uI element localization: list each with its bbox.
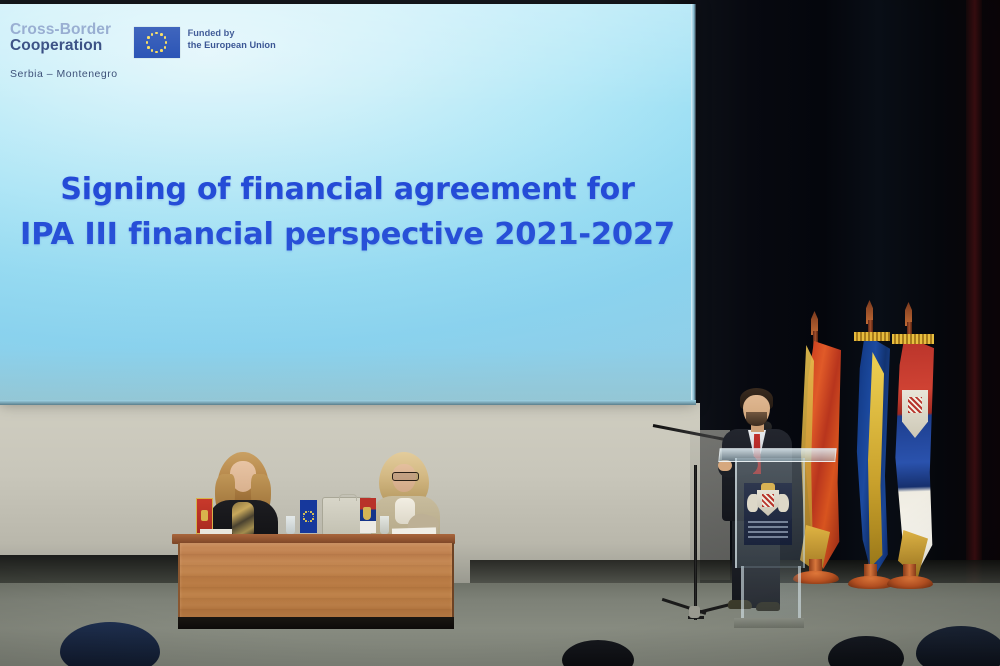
serbia-flag-fringe [892,334,934,344]
signing-table-under-shadow [178,617,454,629]
eu-table-flag [300,500,317,533]
slide-title-line-1: Signing of financial agreement for [0,167,695,212]
event-photograph: Cross-Border Cooperation Serbia – Monten… [0,0,1000,666]
microphone-stand-pole [694,465,697,620]
serbia-table-flag [360,498,376,533]
serbia-ceremonial-flag [890,320,936,588]
slide-header: Cross-Border Cooperation Serbia – Monten… [10,22,276,80]
eu-funding-line-2: the European Union [188,39,276,51]
eu-flag-fringe [854,332,890,341]
eyeglasses-icon [392,472,419,481]
heraldic-supporter-left-icon [747,494,758,512]
woman-left-seated [208,452,278,538]
speaker-beard [746,412,767,426]
eu-ceremonial-flag [852,318,892,588]
wall-red-accent-stripe [966,0,982,612]
programme-countries: Serbia – Montenegro [10,69,118,80]
programme-line-2: Cooperation [10,38,118,54]
podium-floor-plate [734,618,804,628]
podium-plaque-text [748,521,788,539]
eu-flag-icon [134,27,180,58]
podium-reading-surface [718,448,836,462]
woman-left-patterned-scarf [232,502,254,536]
eu-funding-line-1: Funded by [188,27,276,39]
slide-title-line-2: IPA III financial perspective 2021-2027 [0,212,695,258]
screen-bottom-edge [0,400,696,405]
slide-title: Signing of financial agreement for IPA I… [0,167,695,258]
signing-table-front-panel [178,543,454,619]
programme-line-1: Cross-Border [10,22,118,38]
flag-stand-base [887,576,933,589]
eu-funding-text: Funded by the European Union [188,27,276,52]
cross-border-cooperation-logo: Cross-Border Cooperation Serbia – Monten… [10,22,118,80]
water-glass [380,516,389,534]
projection-screen: Cross-Border Cooperation Serbia – Monten… [0,4,695,404]
microphone-tripod-hub [689,606,700,618]
water-glass [286,516,295,534]
screen-right-edge [691,4,696,404]
crown-icon [761,483,775,491]
shield-icon [757,490,779,516]
podium-coat-of-arms-plaque [744,483,792,545]
eu-funding-logo: Funded by the European Union [134,22,276,58]
heraldic-supporter-right-icon [778,494,789,512]
